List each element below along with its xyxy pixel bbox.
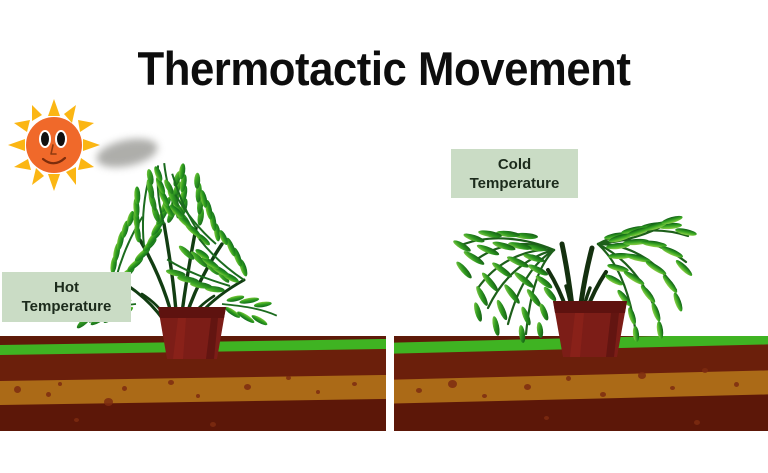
page-title: Thermotactic Movement (27, 42, 741, 96)
frond-cluster-left (452, 229, 558, 343)
label-hot-temperature: Hot Temperature (2, 272, 131, 322)
soil-speck (734, 382, 739, 387)
panel-divider (386, 334, 394, 433)
label-hot-line1: Hot (54, 278, 79, 297)
soil-speck (544, 416, 549, 420)
soil-speck (286, 376, 291, 380)
soil-speck (196, 394, 200, 398)
pot-hot (156, 303, 228, 361)
soil-speck (46, 392, 51, 397)
soil-speck (566, 376, 571, 381)
soil-speck (638, 372, 646, 379)
soil-speck (104, 398, 113, 406)
soil-speck (210, 422, 216, 427)
pot-cold (551, 297, 629, 359)
diagram-canvas: Thermotactic Movement (0, 0, 768, 473)
soil-speck (702, 368, 708, 373)
soil-speck (122, 386, 127, 391)
soil-speck (316, 390, 320, 394)
soil-speck (448, 380, 457, 388)
label-cold-temperature: Cold Temperature (451, 149, 578, 198)
soil-speck (482, 394, 487, 398)
soil-speck (524, 384, 531, 390)
soil-speck (58, 382, 62, 386)
soil-speck (352, 382, 357, 386)
soil-speck (14, 386, 21, 393)
soil-speck (670, 386, 675, 390)
subsoil-layer (0, 399, 386, 431)
soil-speck (168, 380, 174, 385)
soil-speck (244, 384, 251, 390)
soil-speck (416, 388, 422, 393)
label-hot-line2: Temperature (22, 297, 112, 316)
soil-speck (694, 420, 700, 425)
soil-speck (600, 392, 606, 397)
label-cold-line2: Temperature (470, 174, 560, 193)
soil-speck (74, 418, 79, 422)
label-cold-line1: Cold (498, 155, 531, 174)
